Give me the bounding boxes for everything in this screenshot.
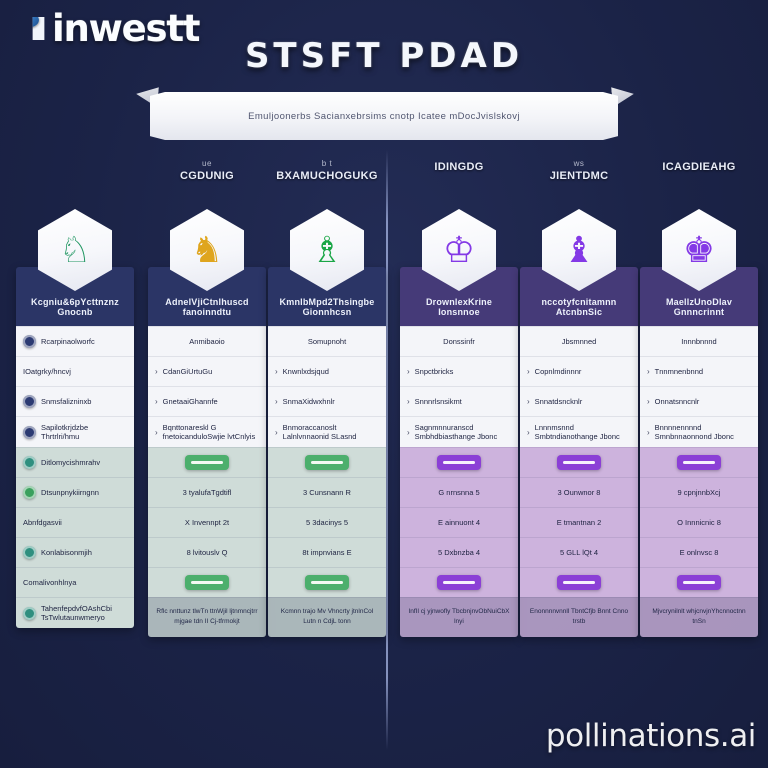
feature-row[interactable]: Sapilotkrjdzbe Thrtrlri/hmu <box>16 416 134 447</box>
feature-label: Snpctbricks <box>415 367 454 376</box>
page-title: STSFT PDAD <box>0 36 768 76</box>
panel-title-line2: fanoinndtu <box>154 307 260 317</box>
panel-title-line1: Kcgniu&6pYcttnznz <box>22 297 128 307</box>
feature-label: Bqnttonareskl G fnetoicanduloSwjie lvtCn… <box>163 423 259 441</box>
bullet-icon: › <box>155 367 158 376</box>
panel-title-line1: DrownlexKrine <box>406 297 512 307</box>
feature-row[interactable] <box>640 447 758 477</box>
feature-row[interactable] <box>268 447 386 477</box>
feature-row[interactable]: ›Knwnlxdsjqud <box>268 356 386 386</box>
infographic-canvas: inwestt STSFT PDAD Emuljoonerbs Sacianxe… <box>0 0 768 768</box>
goat-head-icon: ♚ <box>662 209 736 291</box>
feature-label: 9 cpnjnnbXcj <box>678 488 721 497</box>
feature-label: Bnnnnennnnd Smnbnnaonnond Jbonc <box>655 423 751 441</box>
panel-title-line2: Gnocnb <box>22 307 128 317</box>
feature-label: Dtsunpnykiirngnn <box>41 488 99 497</box>
feature-label: IOatgrky/hncvj <box>23 367 71 376</box>
feature-row[interactable]: IOatgrky/hncvj <box>16 356 134 386</box>
feature-row[interactable]: Snmsfalizninxb <box>16 386 134 416</box>
feature-row[interactable]: ›CdanGiUrtuGu <box>148 356 266 386</box>
hex-badge: ♗ <box>268 209 386 291</box>
feature-label: Tnnmnenbnnd <box>655 367 703 376</box>
hex-badge: ♘ <box>16 209 134 291</box>
feature-label: O Innnicnic 8 <box>677 518 721 527</box>
hex-badge: ♞ <box>148 209 266 291</box>
panel-title-line2: Ionsnnoe <box>406 307 512 317</box>
column-panel: DrownlexKrineIonsnnoeDonssinfr›Snpctbric… <box>400 267 518 637</box>
comparison-column-1[interactable]: ♘Kcgniu&6pYcttnznzGnocnbRcarpinaolworfcI… <box>16 155 134 628</box>
feature-label: Knwnlxdsjqud <box>283 367 329 376</box>
feature-row[interactable]: O Innnicnic 8 <box>640 507 758 537</box>
bullet-icon: › <box>647 367 650 376</box>
feature-row[interactable]: Somupnoht <box>268 326 386 356</box>
feature-row[interactable]: ›Bnmoraccanoslt Lalnlvnnaonid SLasnd <box>268 416 386 447</box>
feature-row[interactable]: ›Copnlmdinnnr <box>520 356 638 386</box>
bullet-icon: › <box>275 367 278 376</box>
column-kicker: b t <box>268 159 386 168</box>
hex-glyph: ♝ <box>563 232 595 268</box>
status-dot-icon <box>23 426 36 439</box>
feature-row[interactable]: 8t impnvians E <box>268 537 386 567</box>
value-pill-badge[interactable] <box>557 575 601 590</box>
feature-label: 5 3dacinys 5 <box>306 518 348 527</box>
feature-row[interactable]: Anmibaoio <box>148 326 266 356</box>
feature-label: SnmaXidwxhnlr <box>283 397 335 406</box>
feature-label: Sagnmnnuranscd Smbhdbiasthange Jbonc <box>415 423 511 441</box>
feature-label: 3 Ounwnor 8 <box>558 488 601 497</box>
feature-row[interactable] <box>400 447 518 477</box>
feature-label: Rcarpinaolworfc <box>41 337 95 346</box>
feature-label: CdanGiUrtuGu <box>163 367 213 376</box>
column-footnote: Kcmnn trajo Mv Vhncrty jtnlnCol Lutn n C… <box>268 597 386 637</box>
feature-row[interactable]: 9 cpnjnnbXcj <box>640 477 758 507</box>
watermark: pollinations.ai <box>546 718 756 754</box>
feature-label: Snnnrlsnsikmt <box>415 397 462 406</box>
bull-icon: ♗ <box>290 209 364 291</box>
bear-icon: ♔ <box>422 209 496 291</box>
panel-title-line1: nccotyfcnitamnn <box>526 297 632 307</box>
feature-row[interactable]: ›Lnnnmsnnd Smbtndianothange Jbonc <box>520 416 638 447</box>
feature-row[interactable]: 3 tyalufaTgdtifl <box>148 477 266 507</box>
feature-label: Snmsfalizninxb <box>41 397 91 406</box>
bullet-icon: › <box>647 397 650 406</box>
column-header <box>16 155 134 209</box>
feature-label: Donssinfr <box>443 337 475 346</box>
status-dot-icon <box>23 607 36 620</box>
feature-label: Snnatdsncknlr <box>535 397 583 406</box>
status-dot-icon <box>23 546 36 559</box>
feature-row[interactable]: Dtsunpnykiirngnn <box>16 477 134 507</box>
value-pill-badge[interactable] <box>185 455 229 470</box>
feature-row[interactable]: ›Onnatsnncnlr <box>640 386 758 416</box>
feature-row[interactable] <box>400 567 518 597</box>
comparison-column-5[interactable]: wsJIENTDMC♝nccotyfcnitamnnAtcnbnSicJbsmn… <box>520 155 638 637</box>
value-pill-badge[interactable] <box>677 575 721 590</box>
feature-rows: Donssinfr›Snpctbricks›Snnnrlsnsikmt›Sagn… <box>400 326 518 597</box>
value-pill-badge[interactable] <box>437 575 481 590</box>
feature-label: Anmibaoio <box>189 337 224 346</box>
feature-row[interactable]: Abnfdgasvii <box>16 507 134 537</box>
value-pill-badge[interactable] <box>557 455 601 470</box>
bullet-icon: › <box>155 397 158 406</box>
feature-row[interactable]: E ainnuont 4 <box>400 507 518 537</box>
column-kicker: ue <box>148 159 266 168</box>
column-footnote: Enonnnnvnnll TbntCfjb Bnnt Cnno trstb <box>520 597 638 637</box>
bullet-icon: › <box>407 428 410 437</box>
column-header: ICAGDIEAHG <box>640 155 758 209</box>
column-header: b tBXAMUCHOGUKG <box>268 155 386 209</box>
feature-label: E ainnuont 4 <box>438 518 480 527</box>
panel-title-line2: Gnnncrinnt <box>646 307 752 317</box>
panel-title-line1: MaellzUnoDlav <box>646 297 752 307</box>
feature-label: TahenfepdvfOAshCbi TsTwlutaunwmeryo <box>41 604 112 622</box>
feature-label: 3 Cunsnann R <box>303 488 351 497</box>
hex-badge: ♚ <box>640 209 758 291</box>
column-name: JIENTDMC <box>520 170 638 182</box>
subtitle-ribbon: Emuljoonerbs Sacianxebrsims cnotp Icatee… <box>150 92 618 140</box>
feature-row[interactable]: ›Snnatdsncknlr <box>520 386 638 416</box>
feature-label: 8 lvitouslv Q <box>187 548 228 557</box>
column-name: CGDUNIG <box>148 170 266 182</box>
feature-label: Konlabisonmjih <box>41 548 92 557</box>
feature-row[interactable]: ›Tnnmnenbnnd <box>640 356 758 386</box>
horse-icon: ♘ <box>38 209 112 291</box>
column-name: ICAGDIEAHG <box>640 161 758 173</box>
panel-title-line1: KmnlbMpd2Thsingbe <box>274 297 380 307</box>
feature-label: Jbsmnned <box>562 337 597 346</box>
feature-label: Bnmoraccanoslt Lalnlvnnaonid SLasnd <box>283 423 379 441</box>
hex-badge: ♔ <box>400 209 518 291</box>
feature-row[interactable]: 5 Dxbnzba 4 <box>400 537 518 567</box>
feature-label: E onlnvsc 8 <box>680 548 719 557</box>
feature-row[interactable]: Rcarpinaolworfc <box>16 326 134 356</box>
feature-row[interactable] <box>148 567 266 597</box>
feature-label: Somupnoht <box>308 337 346 346</box>
panel-title-line2: Gionnhcsn <box>274 307 380 317</box>
value-pill-badge[interactable] <box>305 455 349 470</box>
feature-row[interactable]: Donssinfr <box>400 326 518 356</box>
panel-title-line2: AtcnbnSic <box>526 307 632 317</box>
feature-row[interactable]: 5 GLL lQt 4 <box>520 537 638 567</box>
feature-row[interactable]: ›Snpctbricks <box>400 356 518 386</box>
feature-label: 5 Dxbnzba 4 <box>438 548 480 557</box>
feature-row[interactable]: ›Bnnnnennnnd Smnbnnaonnond Jbonc <box>640 416 758 447</box>
feature-row[interactable]: Jbsmnned <box>520 326 638 356</box>
status-dot-icon <box>23 486 36 499</box>
feature-label: GnetaaiGhannfe <box>163 397 218 406</box>
status-dot-icon <box>23 456 36 469</box>
hex-glyph: ♞ <box>191 232 223 268</box>
feature-rows: Somupnoht›Knwnlxdsjqud›SnmaXidwxhnlr›Bnm… <box>268 326 386 597</box>
hex-glyph: ♘ <box>59 232 91 268</box>
feature-label: Abnfdgasvii <box>23 518 62 527</box>
feature-row[interactable]: Innnbnnnd <box>640 326 758 356</box>
column-name: IDINGDG <box>400 161 518 173</box>
feature-label: X Invennpt 2t <box>185 518 229 527</box>
feature-row[interactable] <box>148 447 266 477</box>
column-panel: Kcgniu&6pYcttnznzGnocnbRcarpinaolworfcIO… <box>16 267 134 628</box>
bullet-icon: › <box>407 367 410 376</box>
feature-label: Ditlomycishmrahv <box>41 458 100 467</box>
feature-rows: Innnbnnnd›Tnnmnenbnnd›Onnatsnncnlr›Bnnnn… <box>640 326 758 597</box>
feature-rows: RcarpinaolworfcIOatgrky/hncvjSnmsfalizni… <box>16 326 134 628</box>
subtitle-text: Emuljoonerbs Sacianxebrsims cnotp Icatee… <box>248 111 520 122</box>
feature-rows: Anmibaoio›CdanGiUrtuGu›GnetaaiGhannfe›Bq… <box>148 326 266 597</box>
feature-label: Sapilotkrjdzbe Thrtrlri/hmu <box>41 423 88 441</box>
feature-row[interactable]: 3 Cunsnann R <box>268 477 386 507</box>
panel-title-line1: AdnelVjiCtnlhuscd <box>154 297 260 307</box>
feature-label: Innnbnnnd <box>681 337 716 346</box>
status-dot-icon <box>23 395 36 408</box>
feature-row[interactable] <box>520 567 638 597</box>
column-panel: nccotyfcnitamnnAtcnbnSicJbsmnned›Copnlmd… <box>520 267 638 637</box>
feature-row[interactable]: E onlnvsc 8 <box>640 537 758 567</box>
feature-row[interactable]: G nrnsnna 5 <box>400 477 518 507</box>
feature-row[interactable]: ›Sagnmnnuranscd Smbhdbiasthange Jbonc <box>400 416 518 447</box>
feature-label: Copnlmdinnnr <box>535 367 582 376</box>
goat-icon: ♞ <box>170 209 244 291</box>
comparison-column-4[interactable]: IDINGDG♔DrownlexKrineIonsnnoeDonssinfr›S… <box>400 155 518 637</box>
hex-badge: ♝ <box>520 209 638 291</box>
feature-row[interactable]: 8 lvitouslv Q <box>148 537 266 567</box>
feature-row[interactable]: ›SnmaXidwxhnlr <box>268 386 386 416</box>
feature-row[interactable]: ›Bqnttonareskl G fnetoicanduloSwjie lvtC… <box>148 416 266 447</box>
hex-glyph: ♔ <box>443 232 475 268</box>
feature-row[interactable]: Comalivonhlnya <box>16 567 134 597</box>
column-panel: KmnlbMpd2ThsingbeGionnhcsnSomupnoht›Knwn… <box>268 267 386 637</box>
value-pill-badge[interactable] <box>305 575 349 590</box>
comparison-columns: ♘Kcgniu&6pYcttnznzGnocnbRcarpinaolworfcI… <box>0 155 768 755</box>
feature-row[interactable]: 5 3dacinys 5 <box>268 507 386 537</box>
bullet-icon: › <box>275 397 278 406</box>
column-footnote: InfIl cj yjnwofly TbcbnjnvObNuiCbX lnyi <box>400 597 518 637</box>
bullet-icon: › <box>275 428 278 437</box>
feature-label: G nrnsnna 5 <box>438 488 479 497</box>
feature-label: E tmantnan 2 <box>557 518 602 527</box>
feature-row[interactable]: 3 Ounwnor 8 <box>520 477 638 507</box>
feature-label: Lnnnmsnnd Smbtndianothange Jbonc <box>535 423 631 441</box>
value-pill-badge[interactable] <box>677 455 721 470</box>
hex-glyph: ♚ <box>683 232 715 268</box>
feature-row[interactable] <box>268 567 386 597</box>
feature-row[interactable]: Ditlomycishmrahv <box>16 447 134 477</box>
feature-row[interactable]: ›GnetaaiGhannfe <box>148 386 266 416</box>
feature-row[interactable]: TahenfepdvfOAshCbi TsTwlutaunwmeryo <box>16 597 134 628</box>
column-header: IDINGDG <box>400 155 518 209</box>
bullet-icon: › <box>527 367 530 376</box>
feature-row[interactable]: Konlabisonmjih <box>16 537 134 567</box>
column-header: wsJIENTDMC <box>520 155 638 209</box>
feature-rows: Jbsmnned›Copnlmdinnnr›Snnatdsncknlr›Lnnn… <box>520 326 638 597</box>
feature-row[interactable] <box>520 447 638 477</box>
feature-label: 5 GLL lQt 4 <box>560 548 598 557</box>
feature-label: Onnatsnncnlr <box>655 397 700 406</box>
status-dot-icon <box>23 335 36 348</box>
bullet-icon: › <box>527 428 530 437</box>
ram-icon: ♝ <box>542 209 616 291</box>
column-header: ueCGDUNIG <box>148 155 266 209</box>
feature-row[interactable] <box>640 567 758 597</box>
feature-label: 3 tyalufaTgdtifl <box>183 488 232 497</box>
bullet-icon: › <box>647 428 650 437</box>
bullet-icon: › <box>155 428 158 437</box>
column-name: BXAMUCHOGUKG <box>268 170 386 182</box>
hex-glyph: ♗ <box>311 232 343 268</box>
feature-row[interactable]: ›Snnnrlsnsikmt <box>400 386 518 416</box>
column-panel: AdnelVjiCtnlhuscdfanoinndtuAnmibaoio›Cda… <box>148 267 266 637</box>
feature-row[interactable]: E tmantnan 2 <box>520 507 638 537</box>
feature-label: Comalivonhlnya <box>23 578 76 587</box>
comparison-column-6[interactable]: ICAGDIEAHG♚MaellzUnoDlavGnnncrinntInnnbn… <box>640 155 758 637</box>
value-pill-badge[interactable] <box>437 455 481 470</box>
comparison-column-3[interactable]: b tBXAMUCHOGUKG♗KmnlbMpd2ThsingbeGionnhc… <box>268 155 386 637</box>
column-footnote: Rflc nnttunz tlwTn ttnWjil ljtnmncjtrr m… <box>148 597 266 637</box>
column-kicker: ws <box>520 159 638 168</box>
bullet-icon: › <box>527 397 530 406</box>
comparison-column-2[interactable]: ueCGDUNIG♞AdnelVjiCtnlhuscdfanoinndtuAnm… <box>148 155 266 637</box>
column-footnote: Mjvcrynilnlt whjcnvjnYhcnnoctnn tnSn <box>640 597 758 637</box>
feature-row[interactable]: X Invennpt 2t <box>148 507 266 537</box>
bullet-icon: › <box>407 397 410 406</box>
column-panel: MaellzUnoDlavGnnncrinntInnnbnnnd›Tnnmnen… <box>640 267 758 637</box>
feature-label: 8t impnvians E <box>302 548 351 557</box>
value-pill-badge[interactable] <box>185 575 229 590</box>
